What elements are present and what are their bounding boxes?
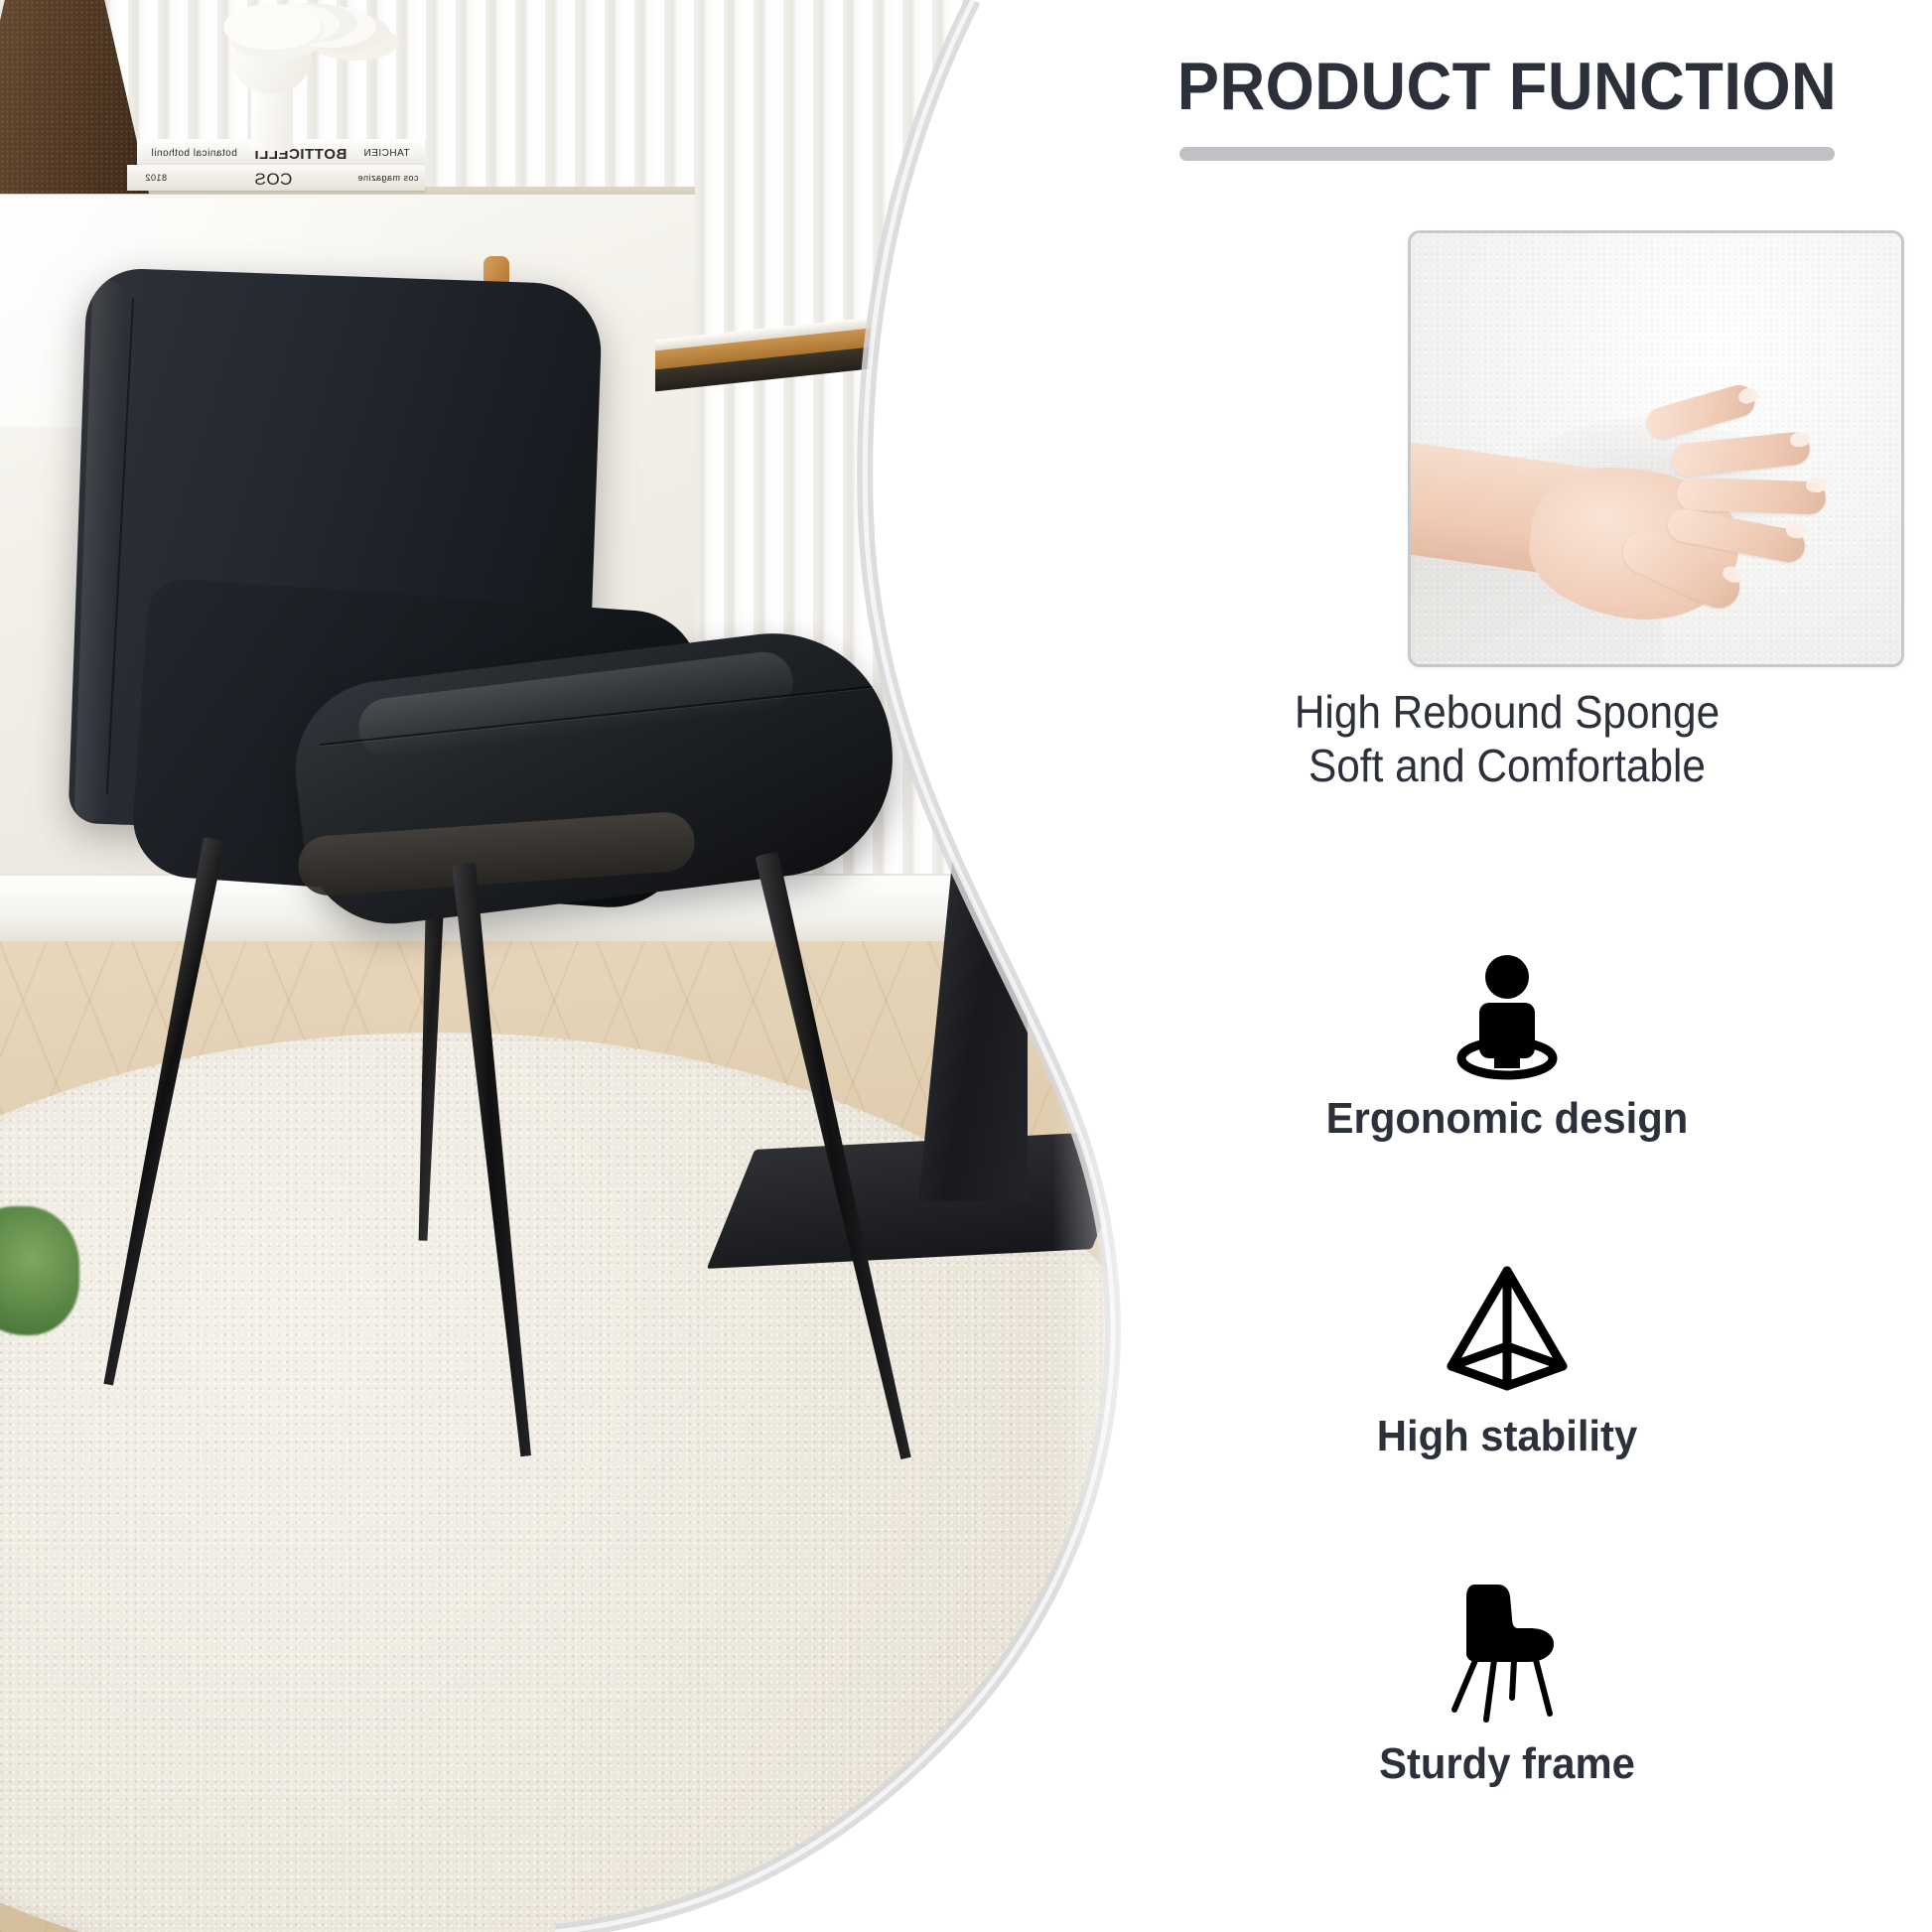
wireframe-pyramid-icon: [1438, 1259, 1577, 1398]
person-in-ring-icon: [1448, 951, 1567, 1080]
feature-label-frame: Sturdy frame: [1103, 1739, 1910, 1789]
feature-ergonomic-design: Ergonomic design: [1082, 951, 1932, 1144]
feature-high-stability: High stability: [1082, 1259, 1932, 1461]
feature-panel: PRODUCT FUNCTION High Rebound Sponge Sof…: [1082, 0, 1932, 1932]
white-bust-sculpture: [213, 8, 333, 149]
page-title: PRODUCT FUNCTION: [1112, 48, 1902, 125]
book-top-left-text: botanical bothonil: [151, 148, 237, 159]
book-bottom-left-text: 8102: [145, 173, 167, 183]
feature-label-ergonomic: Ergonomic design: [1103, 1094, 1910, 1144]
book-bottom-title: COS: [254, 170, 292, 190]
title-divider: [1179, 147, 1835, 161]
book-bottom-right-text: cos magazine: [357, 173, 419, 183]
sponge-caption-line2: Soft and Comfortable: [1116, 739, 1898, 792]
feature-label-stability: High stability: [1103, 1412, 1910, 1461]
sponge-photo-card: [1408, 230, 1904, 667]
book-top-right-text: TAHCIEN: [363, 148, 410, 159]
bust-hair: [223, 4, 321, 50]
product-function-infographic: BOTTICELLI botanical bothonil TAHCIEN CO…: [0, 0, 1932, 1932]
sponge-caption: High Rebound Sponge Soft and Comfortable: [1116, 685, 1898, 792]
chair-silhouette-icon: [1433, 1567, 1582, 1725]
book-cos: COS 8102 cos magazine: [127, 165, 425, 191]
feature-sturdy-frame: Sturdy frame: [1082, 1567, 1932, 1789]
product-photo: BOTTICELLI botanical bothonil TAHCIEN CO…: [0, 0, 1241, 1932]
sponge-caption-line1: High Rebound Sponge: [1116, 685, 1898, 739]
fingernail-ring: [1806, 478, 1827, 493]
ring-finger: [1676, 477, 1826, 514]
